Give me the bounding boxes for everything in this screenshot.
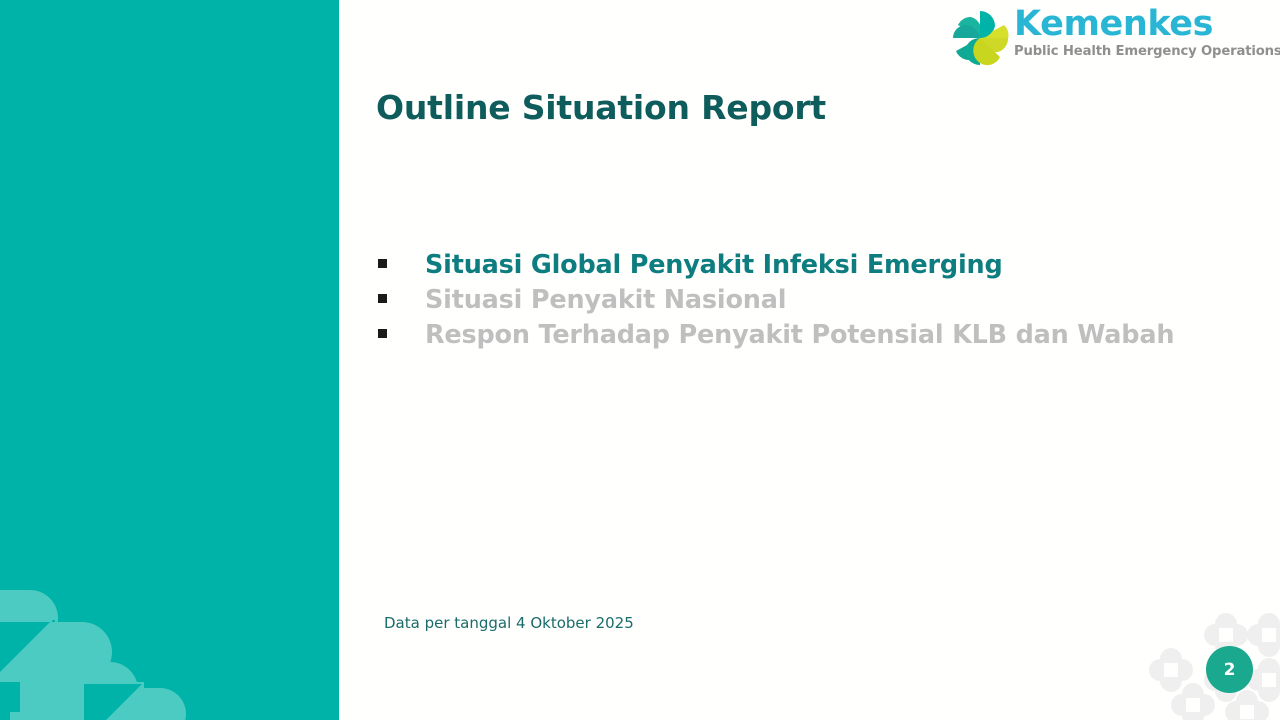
list-item[interactable]: Situasi Penyakit Nasional [378, 285, 1218, 320]
outline-item-label: Respon Terhadap Penyakit Potensial KLB d… [425, 320, 1174, 350]
slide-canvas: Kemenkes Public Health Emergency Operati… [0, 0, 1280, 720]
data-date-note: Data per tanggal 4 Oktober 2025 [384, 614, 634, 632]
kemenkes-clover-logo-icon [948, 7, 1012, 69]
batik-ornament-decoration [1120, 600, 1280, 720]
kemenkes-logo: Kemenkes Public Health Emergency Operati… [948, 5, 1280, 71]
logo-subtitle: Public Health Emergency Operations Cente… [1014, 43, 1280, 60]
outline-list: Situasi Global Penyakit Infeksi Emerging… [378, 250, 1218, 355]
left-sidebar [0, 0, 339, 720]
outline-item-label: Situasi Penyakit Nasional [425, 285, 786, 315]
square-bullet-icon [378, 294, 387, 303]
logo-wordmark: Kemenkes Public Health Emergency Operati… [1014, 5, 1280, 60]
logo-title: Kemenkes [1014, 5, 1280, 43]
page-title: Outline Situation Report [376, 88, 826, 127]
square-bullet-icon [378, 259, 387, 268]
sidebar-geometric-decoration [0, 560, 190, 720]
square-bullet-icon [378, 329, 387, 338]
page-number-badge: 2 [1206, 646, 1253, 693]
list-item[interactable]: Situasi Global Penyakit Infeksi Emerging [378, 250, 1218, 285]
list-item[interactable]: Respon Terhadap Penyakit Potensial KLB d… [378, 320, 1218, 355]
outline-item-label: Situasi Global Penyakit Infeksi Emerging [425, 250, 1003, 280]
